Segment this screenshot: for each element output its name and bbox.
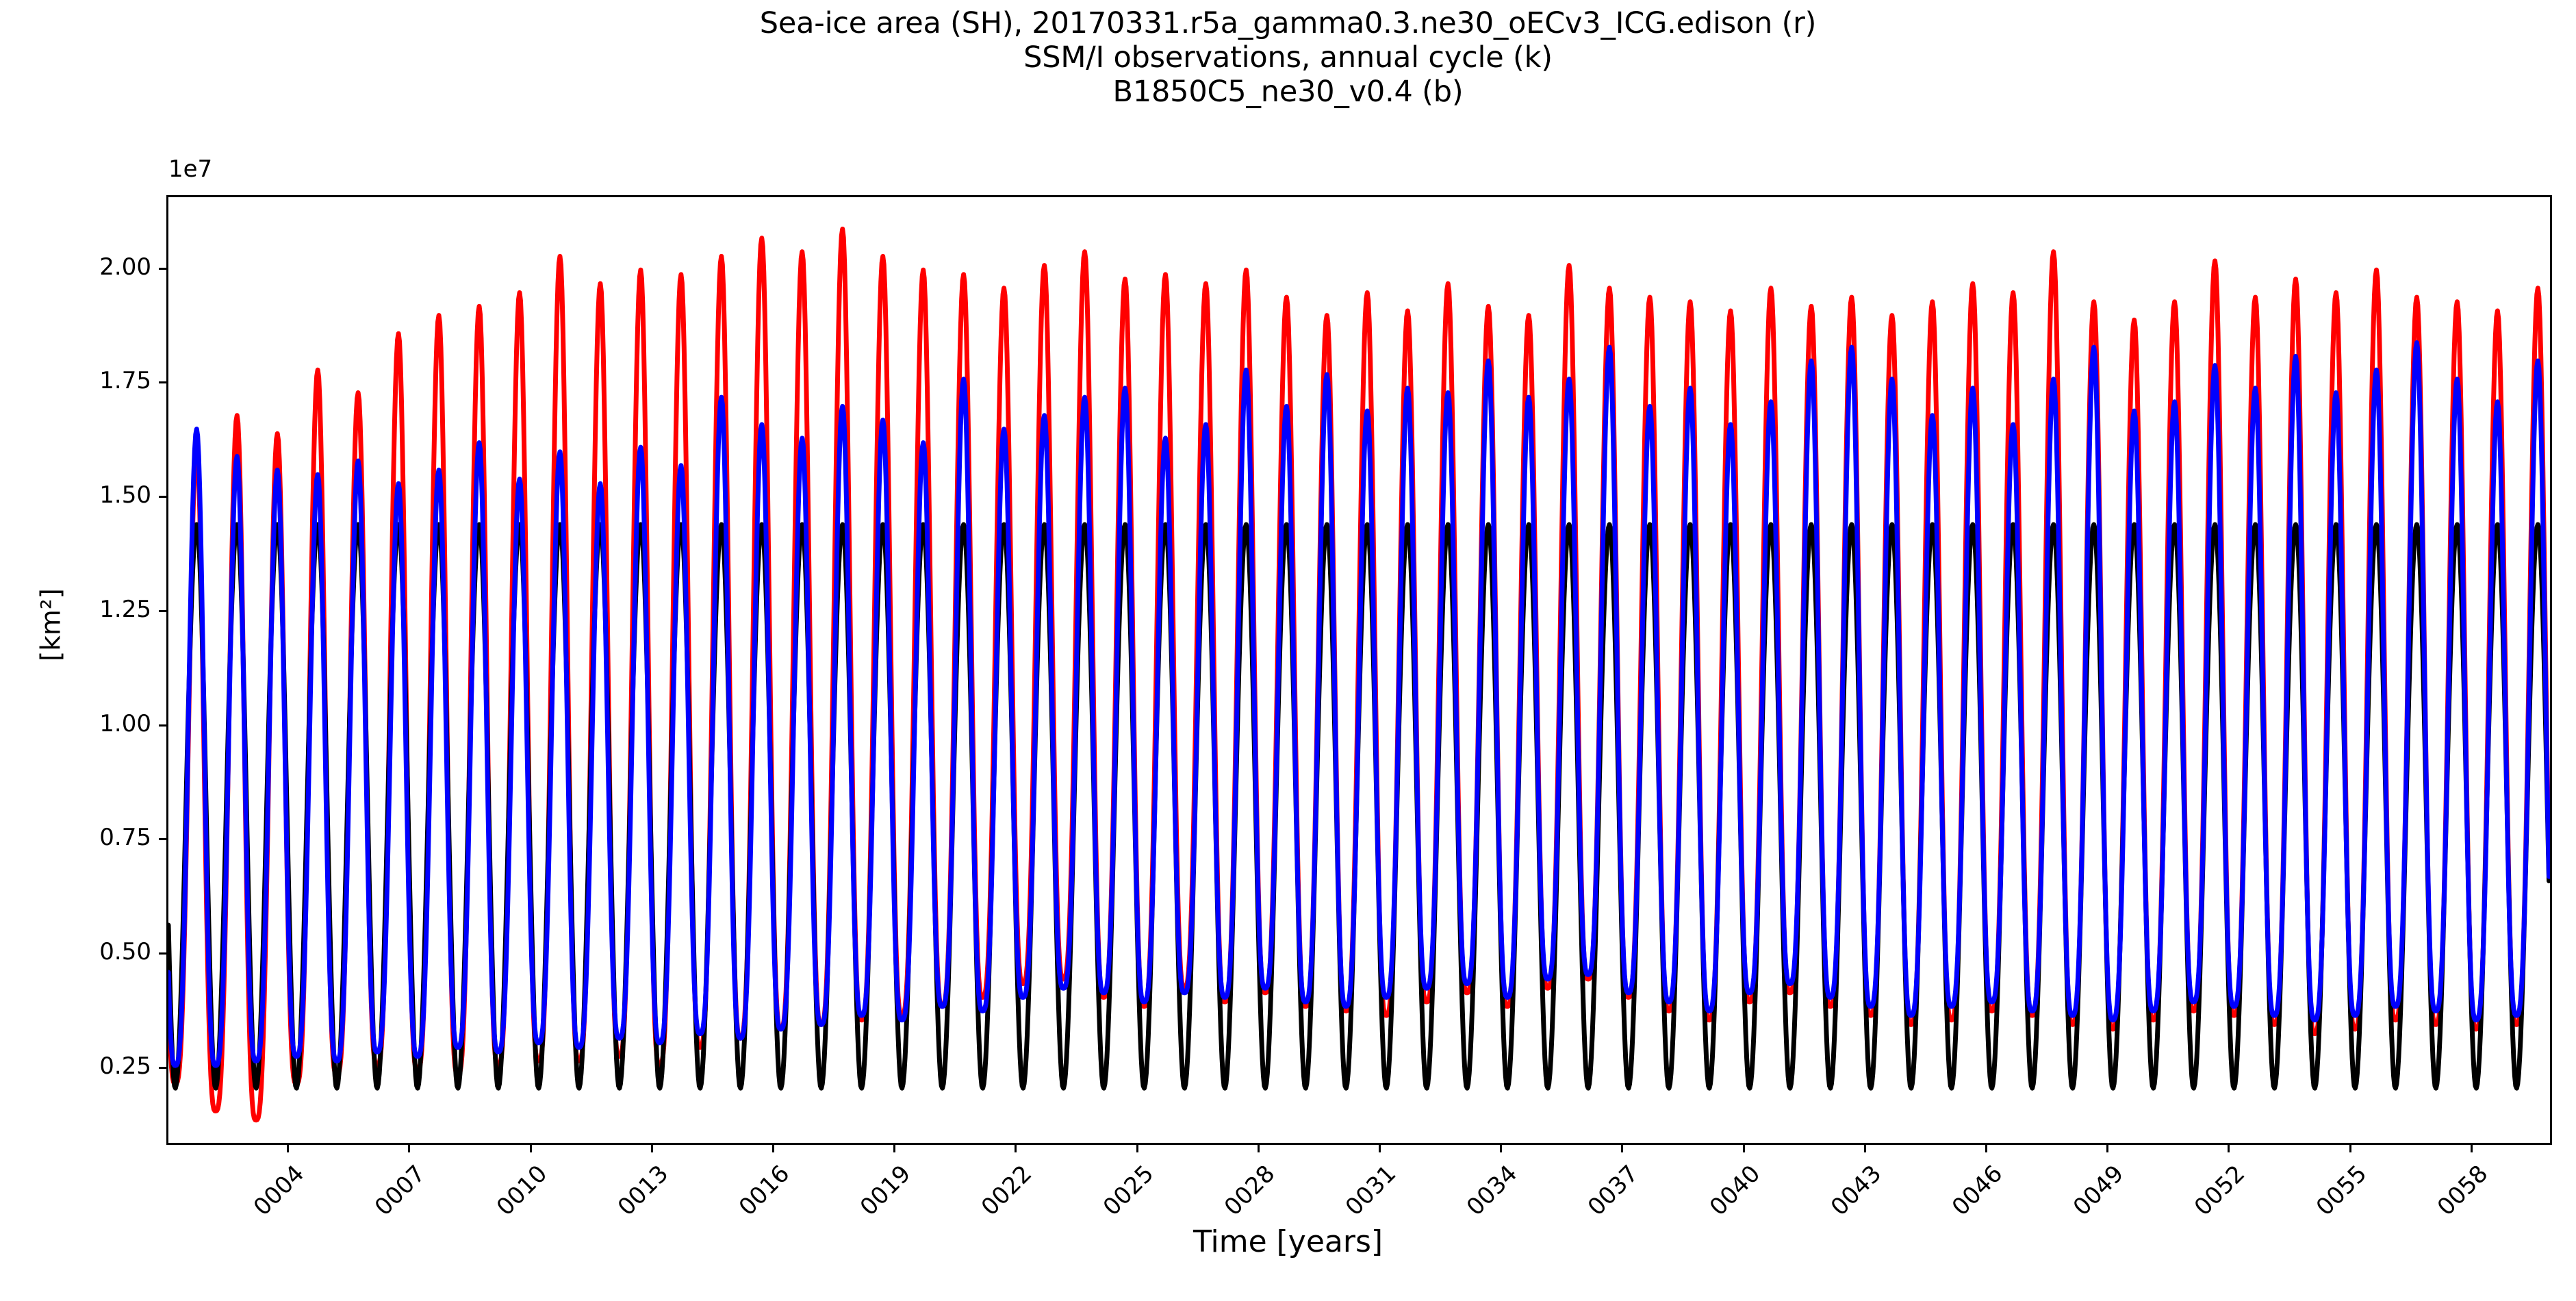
x-axis-label: Time [years] (0, 1224, 2576, 1259)
y-tick-label: 1.75 (14, 367, 151, 394)
x-tick-mark (2106, 1145, 2108, 1152)
x-tick-mark (1743, 1145, 1745, 1152)
x-tick-mark (651, 1145, 653, 1152)
x-tick-label: 0016 (722, 1160, 795, 1233)
x-tick-label: 0040 (1692, 1160, 1765, 1233)
x-tick-mark (1985, 1145, 1987, 1152)
y-tick-mark (159, 838, 166, 840)
x-tick-mark (530, 1145, 532, 1152)
y-tick-mark (159, 496, 166, 498)
x-tick-label: 0046 (1935, 1160, 2008, 1233)
x-tick-label: 0052 (2177, 1160, 2250, 1233)
x-tick-mark (893, 1145, 895, 1152)
x-tick-mark (772, 1145, 774, 1152)
y-tick-label: 0.25 (14, 1052, 151, 1080)
x-tick-mark (1864, 1145, 1866, 1152)
plot-area (166, 195, 2552, 1145)
x-tick-mark (287, 1145, 289, 1152)
x-tick-label: 0058 (2420, 1160, 2493, 1233)
x-tick-label: 0025 (1085, 1160, 1158, 1233)
title-line-3: B1850C5_ne30_v0.4 (b) (0, 75, 2576, 110)
x-tick-mark (1500, 1145, 1502, 1152)
y-axis-offset-text: 1e7 (168, 155, 212, 183)
y-tick-label: 0.75 (14, 824, 151, 851)
x-tick-label: 0037 (1570, 1160, 1644, 1233)
x-tick-mark (2349, 1145, 2351, 1152)
x-tick-mark (1621, 1145, 1623, 1152)
x-tick-label: 0043 (1813, 1160, 1887, 1233)
x-tick-mark (2471, 1145, 2473, 1152)
figure-canvas: Sea-ice area (SH), 20170331.r5a_gamma0.3… (0, 0, 2576, 1301)
y-tick-label: 2.00 (14, 253, 151, 281)
x-tick-label: 0028 (1207, 1160, 1280, 1233)
y-tick-mark (159, 268, 166, 270)
x-tick-mark (1379, 1145, 1381, 1152)
x-tick-mark (1136, 1145, 1138, 1152)
x-tick-mark (1258, 1145, 1260, 1152)
x-tick-label: 0055 (2298, 1160, 2371, 1233)
y-tick-label: 1.25 (14, 596, 151, 623)
y-tick-mark (159, 1067, 166, 1069)
x-tick-mark (1015, 1145, 1017, 1152)
y-tick-mark (159, 610, 166, 612)
x-tick-label: 0013 (600, 1160, 674, 1233)
y-tick-label: 0.50 (14, 938, 151, 965)
chart-title: Sea-ice area (SH), 20170331.r5a_gamma0.3… (0, 7, 2576, 110)
x-tick-mark (408, 1145, 410, 1152)
x-tick-label: 0031 (1328, 1160, 1401, 1233)
y-tick-mark (159, 724, 166, 727)
y-tick-mark (159, 952, 166, 955)
x-tick-mark (2228, 1145, 2230, 1152)
x-tick-label: 0049 (2056, 1160, 2129, 1233)
plot-curves (168, 197, 2550, 1143)
x-tick-label: 0010 (479, 1160, 552, 1233)
y-axis-label: [km²] (36, 536, 67, 714)
y-tick-label: 1.50 (14, 481, 151, 509)
y-tick-mark (159, 381, 166, 383)
y-tick-label: 1.00 (14, 710, 151, 737)
x-tick-label: 0022 (964, 1160, 1037, 1233)
x-tick-label: 0004 (236, 1160, 309, 1233)
x-tick-label: 0034 (1449, 1160, 1522, 1233)
title-line-2: SSM/I observations, annual cycle (k) (0, 41, 2576, 75)
title-line-1: Sea-ice area (SH), 20170331.r5a_gamma0.3… (0, 7, 2576, 41)
x-tick-label: 0007 (357, 1160, 431, 1233)
x-tick-label: 0019 (843, 1160, 916, 1233)
